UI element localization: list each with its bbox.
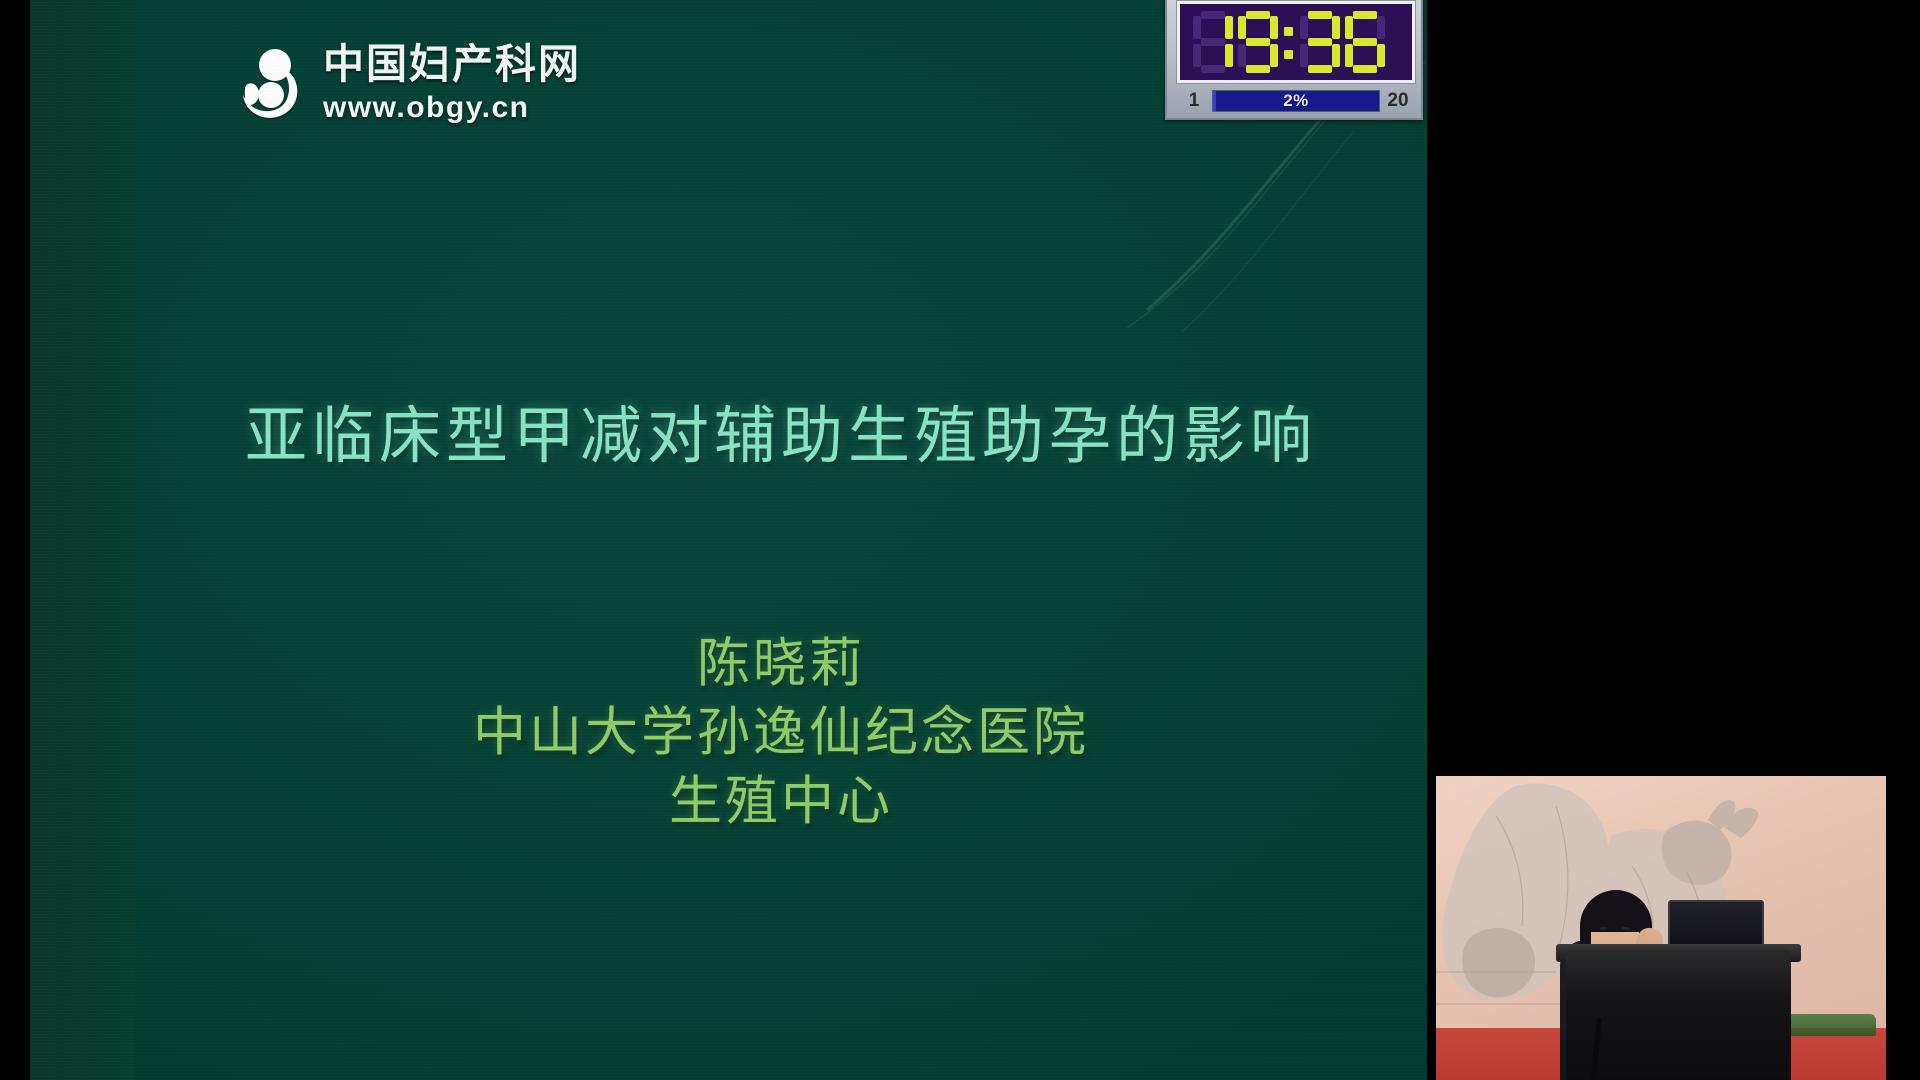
timer-digit-minute-tens xyxy=(1300,11,1340,73)
left-letterbox-bar xyxy=(0,0,30,1080)
slide-left-edge-band xyxy=(30,0,135,1080)
timer-colon-separator xyxy=(1283,11,1295,73)
slide-progress-bar[interactable]: 2% xyxy=(1212,90,1380,112)
byline-department: 生殖中心 xyxy=(135,768,1427,837)
presenter-eye-right xyxy=(1622,927,1629,930)
slide-progress-label: 2% xyxy=(1283,91,1309,111)
byline-institution: 中山大学孙逸仙纪念医院 xyxy=(135,699,1427,768)
podium-laptop xyxy=(1668,900,1764,948)
logo-site-url: www.obgy.cn xyxy=(323,93,581,123)
mother-and-child-icon xyxy=(235,45,309,123)
slide-progress-fill xyxy=(1213,91,1216,111)
presentation-timer-widget[interactable]: 1 2% 20 xyxy=(1165,0,1423,120)
timer-digit-hour-ones xyxy=(1238,11,1278,73)
video-player-screen: 中国妇产科网 www.obgy.cn 亚临床型甲减对辅助生殖助孕的影响 陈晓莉 … xyxy=(0,0,1920,1080)
timer-digit-minute-ones xyxy=(1345,11,1385,73)
timer-lcd-bezel xyxy=(1176,0,1416,84)
slide-total-number: 20 xyxy=(1380,90,1416,112)
slide-current-number: 1 xyxy=(1176,90,1212,112)
logo-site-name: 中国妇产科网 xyxy=(323,44,581,85)
site-logo: 中国妇产科网 www.obgy.cn xyxy=(235,44,581,123)
presentation-slide: 中国妇产科网 www.obgy.cn 亚临床型甲减对辅助生殖助孕的影响 陈晓莉 … xyxy=(135,0,1427,1080)
presenter-eye-left xyxy=(1600,927,1607,930)
timer-progress-row: 1 2% 20 xyxy=(1176,88,1416,114)
slide-byline: 陈晓莉 中山大学孙逸仙纪念医院 生殖中心 xyxy=(135,630,1427,837)
timer-digit-hour-tens xyxy=(1193,11,1233,73)
presenter-fringe xyxy=(1585,902,1645,932)
timer-lcd-screen xyxy=(1180,4,1412,80)
podium xyxy=(1566,950,1791,1080)
byline-author: 陈晓莉 xyxy=(135,630,1427,699)
speaker-video-frame xyxy=(1436,776,1886,1080)
slide-title: 亚临床型甲减对辅助生殖助孕的影响 xyxy=(135,385,1427,475)
speaker-video-inset[interactable] xyxy=(1428,750,1893,1080)
timer-digits xyxy=(1193,11,1385,73)
logo-text-block: 中国妇产科网 www.obgy.cn xyxy=(323,44,581,123)
